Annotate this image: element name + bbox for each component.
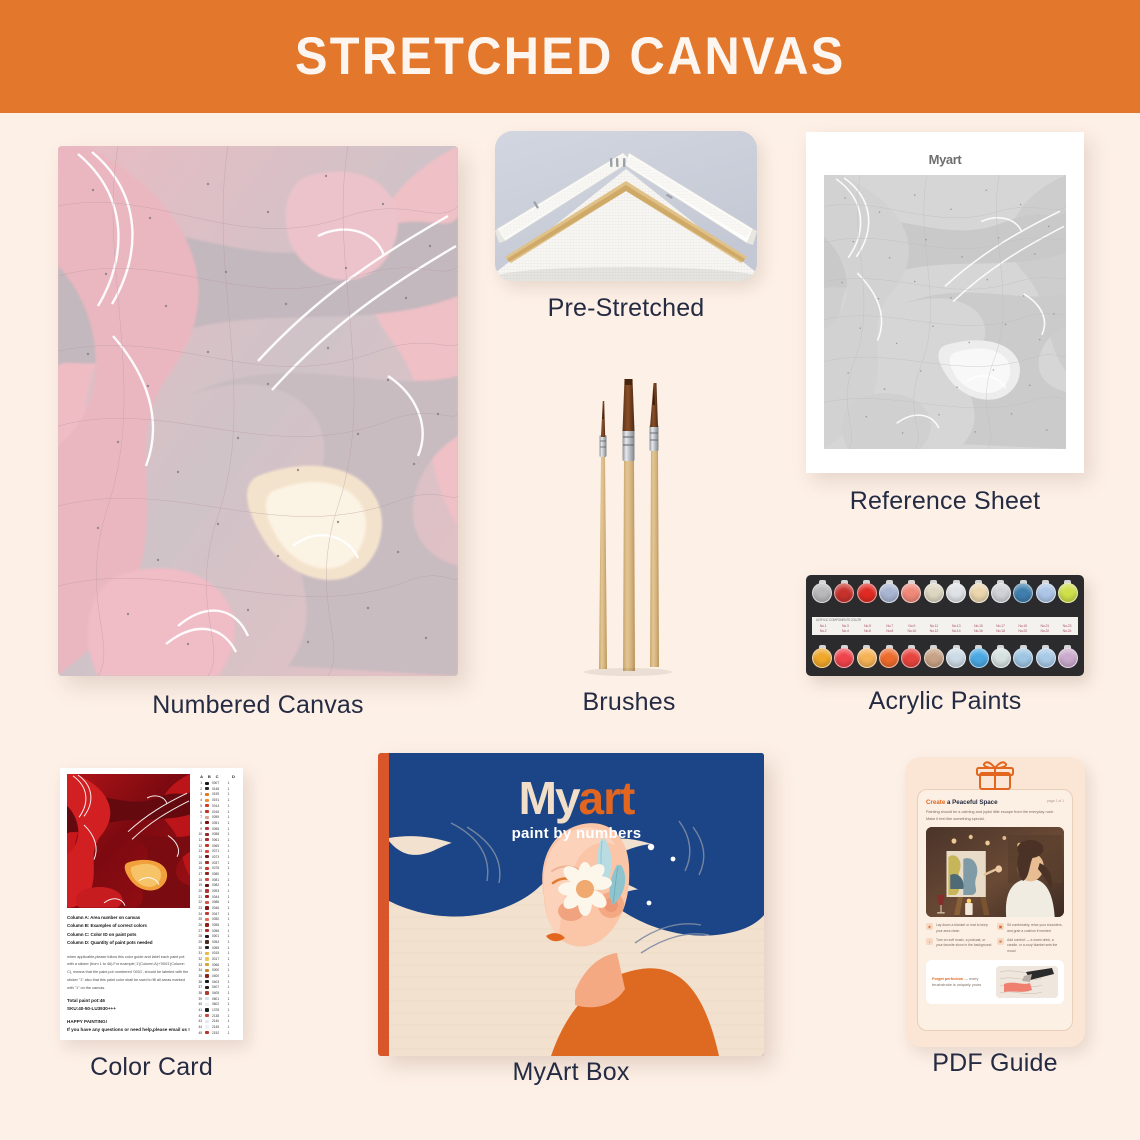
row-colorid: 0017 [212,957,226,961]
row-swatch [205,986,209,989]
color-card-row: 3200171 [195,957,237,961]
row-area: 11 [195,838,202,842]
pre-stretched-photo [495,131,757,281]
row-swatch [205,782,209,785]
color-card-rows: 1000712014813019914019115001416001617005… [195,781,237,1035]
row-swatch [205,833,209,836]
row-area: 28 [195,934,202,938]
color-card-row: 3604031 [195,980,237,984]
row-colorid: 2140 [212,1019,226,1023]
pot-lid [1013,648,1033,668]
row-swatch [205,923,209,926]
paint-pot[interactable] [901,645,921,671]
pdf-subtitle: Painting should be a calming and joyful … [926,809,1064,822]
color-card-row: 2700561 [195,928,237,932]
row-qty: 1 [226,792,231,796]
row-colorid: 0071 [212,849,226,853]
row-swatch [205,929,209,932]
row-qty: 1 [226,974,231,978]
row-colorid: 0093 [212,889,226,893]
row-swatch [205,974,209,977]
row-qty: 1 [226,968,231,972]
color-card-row: 2600551 [195,923,237,927]
row-colorid: 0400 [212,974,226,978]
row-qty: 1 [226,872,231,876]
color-card-row: 2800011 [195,934,237,938]
color-card-left: Column A: Area number on canvas Column B… [67,774,190,1035]
paint-pot[interactable] [946,645,966,671]
row-colorid: 0407 [212,985,226,989]
row-swatch [205,1025,209,1028]
pot-lid [924,583,944,603]
row-swatch [205,1020,209,1023]
paint-pot[interactable] [834,645,854,671]
row-area: 25 [195,917,202,921]
row-area: 10 [195,832,202,836]
row-colorid: 0403 [212,980,226,984]
row-swatch [205,793,209,796]
color-card-row: 100071 [195,781,237,785]
pot-lid [812,648,832,668]
logo-my: My [519,772,579,824]
row-qty: 1 [226,883,231,887]
row-colorid: 0014 [212,804,226,808]
color-card-row: 1100611 [195,838,237,842]
color-card-footer: HAPPY PAINTING! If you have any question… [67,1018,190,1035]
row-area: 24 [195,912,202,916]
row-area: 13 [195,849,202,853]
header-a: A [196,774,203,779]
row-qty: 1 [226,895,231,899]
pdf-tip-text: Add comfort — a warm drink, a candle, or… [1007,938,1063,955]
row-colorid: 0405 [212,991,226,995]
row-colorid: 0055 [212,923,226,927]
header-b: B [204,774,214,779]
pot-lid [834,648,854,668]
paint-pot[interactable] [1036,645,1056,671]
row-qty: 1 [226,1025,231,1029]
paint-pot[interactable] [1036,580,1056,606]
color-card-row: 2900541 [195,940,237,944]
paint-pot[interactable] [1058,580,1078,606]
color-card-row: 2300461 [195,906,237,910]
row-qty: 1 [226,900,231,904]
row-colorid: 0000 [212,968,226,972]
row-area: 15 [195,861,202,865]
color-card-paper: Column A: Area number on canvas Column B… [60,768,243,1040]
paint-pot[interactable] [991,580,1011,606]
product-numbered-canvas[interactable]: Numbered Canvas [58,146,458,676]
row-area: 34 [195,968,202,972]
product-grid: Numbered Canvas [0,113,1140,1140]
row-colorid: 2152 [212,1031,226,1035]
color-card-table-header: A B C D [195,774,237,779]
row-area: 20 [195,889,202,893]
row-swatch [205,895,209,898]
paint-row-bottom [810,645,1080,671]
paint-pot[interactable] [946,580,966,606]
pot-lid [924,648,944,668]
brush-medium [650,383,660,667]
row-swatch [205,1003,209,1006]
row-colorid: 0199 [212,792,226,796]
row-area: 32 [195,957,202,961]
pot-lid [991,648,1011,668]
color-card-row: 1400731 [195,855,237,859]
row-colorid: 0007 [212,781,226,785]
paint-pot[interactable] [857,645,877,671]
row-swatch [205,855,209,858]
color-card-row: 4421451 [195,1025,237,1029]
page-title: STRETCHED CANVAS [295,26,846,87]
row-qty: 1 [226,985,231,989]
box-outer: Myart paint by numbers [378,753,764,1056]
total-paint-pot: Total paint pot:46 [67,997,190,1005]
product-reference-sheet[interactable]: Myart [806,132,1084,473]
pot-lid [1013,583,1033,603]
brush-thin [599,401,607,669]
color-card-row: 2500501 [195,917,237,921]
row-qty: 1 [226,963,231,967]
color-card-row: 900551 [195,826,237,830]
row-colorid: 0037 [212,861,226,865]
row-qty: 1 [226,855,231,859]
pot-lid [1036,583,1056,603]
row-qty: 1 [226,810,231,814]
row-swatch [205,838,209,841]
paint-label: No.9No.10 [901,617,923,635]
paint-pot[interactable] [879,645,899,671]
row-swatch [205,850,209,853]
paint-label: No.17No.18 [989,617,1011,635]
color-card-legend: Column A: Area number on canvas Column B… [67,914,190,948]
color-card-table: A B C D 10007120148130199140191150014160… [195,774,237,1035]
row-colorid: 0055 [212,827,226,831]
row-area: 14 [195,855,202,859]
paint-pot[interactable] [1058,645,1078,671]
legend-a: Column A: Area number on canvas [67,914,190,922]
row-qty: 1 [226,1019,231,1023]
legend-c: Column C: Color ID on paint pots [67,931,190,939]
color-card-row: 1800811 [195,877,237,881]
paint-pot[interactable] [1013,580,1033,606]
row-colorid: 0080 [212,872,226,876]
paint-pot[interactable] [969,645,989,671]
row-colorid: 1378 [212,1008,226,1012]
pdf-sheet: page 1 of 1 Create a Peaceful Space Pain… [917,789,1073,1031]
pdf-tip: ◈Lay down a blanket or mat to keep your … [926,923,992,934]
row-area: 18 [195,878,202,882]
page-header: STRETCHED CANVAS [0,0,1140,113]
row-colorid: 2138 [212,1014,226,1018]
caption-reference-sheet: Reference Sheet [806,487,1084,516]
pot-lid [857,648,877,668]
caption-brushes: Brushes [506,688,752,717]
row-area: 40 [195,1002,202,1006]
row-qty: 1 [226,923,231,927]
row-swatch [205,906,209,909]
row-colorid: 0001 [212,934,226,938]
row-area: 30 [195,946,202,950]
color-card-row: 800511 [195,821,237,825]
logo-art: art [579,772,635,824]
paint-label: No.13No.14 [945,617,967,635]
row-colorid: 0044 [212,895,226,899]
row-area: 2 [195,787,202,791]
row-colorid: 0054 [212,940,226,944]
lamp-icon: ◈ [926,923,933,930]
color-card-row: 201481 [195,787,237,791]
row-colorid: 0058 [212,832,226,836]
pdf-tips-list: ◈Lay down a blanket or mat to keep your … [926,923,1064,954]
color-card-row: 1900821 [195,883,237,887]
brushes-illustration [566,363,692,676]
pdf-page-label: page 1 of 1 [1047,799,1064,803]
sku: SKU:40-50-LU3930+++ [67,1005,190,1013]
product-pdf-guide[interactable]: page 1 of 1 Create a Peaceful Space Pain… [905,757,1085,1047]
brush-flat [623,379,636,671]
paint-label: No.11No.12 [923,617,945,635]
row-colorid: 0059 [212,815,226,819]
product-color-card[interactable]: Column A: Area number on canvas Column B… [60,768,243,1040]
paint-pot[interactable] [901,580,921,606]
row-qty: 1 [226,980,231,984]
row-colorid: 0016 [212,810,226,814]
row-area: 16 [195,866,202,870]
row-swatch [205,799,209,802]
pdf-tip-text: Sit comfortably, relax your shoulders, a… [1007,923,1063,934]
paint-pot[interactable] [924,580,944,606]
row-swatch [205,940,209,943]
row-qty: 1 [226,1008,231,1012]
row-swatch [205,810,209,813]
row-area: 22 [195,900,202,904]
row-area: 33 [195,963,202,967]
header-d: D [231,774,236,779]
row-swatch [205,1014,209,1017]
row-qty: 1 [226,934,231,938]
color-card-row: 3100151 [195,951,237,955]
color-card-row: 401911 [195,798,237,802]
row-swatch [205,952,209,955]
row-qty: 1 [226,1014,231,1018]
row-colorid: 0065 [212,844,226,848]
row-colorid: 0055 [212,946,226,950]
pdf-tip-text: Lay down a blanket or mat to keep your a… [936,923,992,934]
paint-pot[interactable] [857,580,877,606]
reference-sheet-logo: Myart [929,152,962,167]
pdf-tip-text: Turn on soft music, a podcast, or your f… [936,938,992,955]
row-swatch [205,963,209,966]
product-myart-box[interactable]: Myart paint by numbers MyArt Box [378,753,764,1056]
row-colorid: 0046 [212,906,226,910]
color-card-row: 3804051 [195,991,237,995]
color-card-row: 3400001 [195,968,237,972]
paint-label: No.21No.22 [1034,617,1056,635]
row-area: 38 [195,991,202,995]
row-qty: 1 [226,838,231,842]
row-area: 21 [195,895,202,899]
color-card-row: 700591 [195,815,237,819]
paint-label: No.7No.8 [879,617,901,635]
row-area: 26 [195,923,202,927]
pdf-note-image [996,966,1058,998]
pot-lid [1058,648,1078,668]
canvas-corner-illustration [495,131,757,281]
row-colorid: 0082 [212,883,226,887]
caption-color-card: Color Card [30,1053,273,1082]
row-qty: 1 [226,946,231,950]
pdf-tip: ❋Add comfort — a warm drink, a candle, o… [997,938,1063,955]
contact-line: If you have any questions or need help,p… [67,1026,190,1035]
row-qty: 1 [226,815,231,819]
color-card-row: 3000551 [195,945,237,949]
pot-lid [1036,648,1056,668]
pot-lid [901,583,921,603]
pot-lid [901,648,921,668]
row-colorid: 2145 [212,1025,226,1029]
row-colorid: 0047 [212,912,226,916]
paint-pot[interactable] [1013,645,1033,671]
row-colorid: 0191 [212,798,226,802]
row-area: 41 [195,1008,202,1012]
row-colorid: 0081 [212,878,226,882]
row-area: 7 [195,815,202,819]
pdf-tip: ▣Sit comfortably, relax your shoulders, … [997,923,1063,934]
color-card-row: 1300711 [195,849,237,853]
paint-label: No.23No.24 [1056,617,1078,635]
color-card-row: 2100441 [195,894,237,898]
pdf-note: Forget perfection — every brushstroke is… [926,960,1064,1004]
canvas-frame [58,146,458,676]
marble-artwork [58,146,458,676]
row-colorid: 0061 [212,838,226,842]
row-qty: 1 [226,804,231,808]
color-card-row: 1600781 [195,866,237,870]
row-qty: 1 [226,940,231,944]
row-swatch [205,804,209,807]
color-card-row: 2200861 [195,900,237,904]
color-card-row: 301991 [195,792,237,796]
pot-lid [857,583,877,603]
color-card-instructions: when applicable,please follow this color… [67,953,190,992]
row-area: 27 [195,929,202,933]
row-swatch [205,816,209,819]
row-colorid: 0086 [212,900,226,904]
paint-pot[interactable] [991,645,1011,671]
row-swatch [205,867,209,870]
row-qty: 1 [226,957,231,961]
pdf-title-rest: a Peaceful Space [945,799,997,806]
red-marble [67,774,190,908]
row-area: 36 [195,980,202,984]
row-colorid: 0015 [212,951,226,955]
row-qty: 1 [226,821,231,825]
row-area: 42 [195,1014,202,1018]
row-area: 43 [195,1019,202,1023]
product-brushes[interactable]: Brushes [566,363,692,676]
cushion-icon: ▣ [997,923,1004,930]
row-swatch [205,912,209,915]
paint-pot[interactable] [924,645,944,671]
box-face: Myart paint by numbers [389,753,764,1056]
row-colorid: 0050 [212,917,226,921]
paint-pot[interactable] [879,580,899,606]
row-area: 12 [195,844,202,848]
color-card-row: 1000581 [195,832,237,836]
color-card-row: 500141 [195,804,237,808]
row-qty: 1 [226,991,231,995]
pdf-tip: ♪Turn on soft music, a podcast, or your … [926,938,992,955]
color-card-row: 600161 [195,809,237,813]
color-card-row: 4221381 [195,1014,237,1018]
box-logo: Myart [389,771,764,825]
row-qty: 1 [226,951,231,955]
row-swatch [205,980,209,983]
pot-lid [879,583,899,603]
row-qty: 1 [226,878,231,882]
color-card-row: 4006021 [195,1002,237,1006]
row-swatch [205,787,209,790]
row-qty: 1 [226,1031,231,1035]
row-area: 45 [195,1031,202,1035]
row-qty: 1 [226,861,231,865]
paint-pot[interactable] [969,580,989,606]
row-swatch [205,821,209,824]
row-qty: 1 [226,1002,231,1006]
row-area: 39 [195,997,202,1001]
reference-sheet-paper: Myart [806,132,1084,473]
pot-lid [969,648,989,668]
row-area: 5 [195,804,202,808]
pdf-photo [926,827,1064,917]
row-area: 31 [195,951,202,955]
woman-painting-photo [926,827,1064,917]
row-swatch [205,884,209,887]
product-pre-stretched[interactable]: Pre-Stretched [495,131,757,281]
paint-pot[interactable] [834,580,854,606]
color-card-row: 1500371 [195,860,237,864]
pot-lid [879,648,899,668]
row-area: 23 [195,906,202,910]
row-colorid: 0073 [212,855,226,859]
row-qty: 1 [226,866,231,870]
box-tagline: paint by numbers [389,825,764,842]
pdf-guide-tablet: page 1 of 1 Create a Peaceful Space Pain… [905,757,1085,1047]
paint-pot[interactable] [812,645,832,671]
row-qty: 1 [226,787,231,791]
pdf-note-highlight: Forget perfection [932,977,963,981]
paint-pot[interactable] [812,580,832,606]
row-colorid: 0051 [212,821,226,825]
row-swatch [205,969,209,972]
pot-lid [946,583,966,603]
happy-painting: HAPPY PAINTING! [67,1018,190,1027]
pot-lid [812,583,832,603]
color-card-row: 3504001 [195,974,237,978]
row-area: 19 [195,883,202,887]
product-acrylic-paints[interactable]: ACRYLIC COMPONENTS COLOR No.1No.2No.3No.… [806,575,1084,676]
caption-pre-stretched: Pre-Stretched [495,294,757,323]
caption-pdf-guide: PDF Guide [905,1049,1085,1078]
paint-label-strip: ACRYLIC COMPONENTS COLOR No.1No.2No.3No.… [812,617,1078,635]
music-icon: ♪ [926,938,933,945]
row-area: 3 [195,792,202,796]
header-c: C [216,774,230,779]
row-swatch [205,918,209,921]
row-area: 29 [195,940,202,944]
pdf-note-text: Forget perfection — every brushstroke is… [932,976,990,989]
